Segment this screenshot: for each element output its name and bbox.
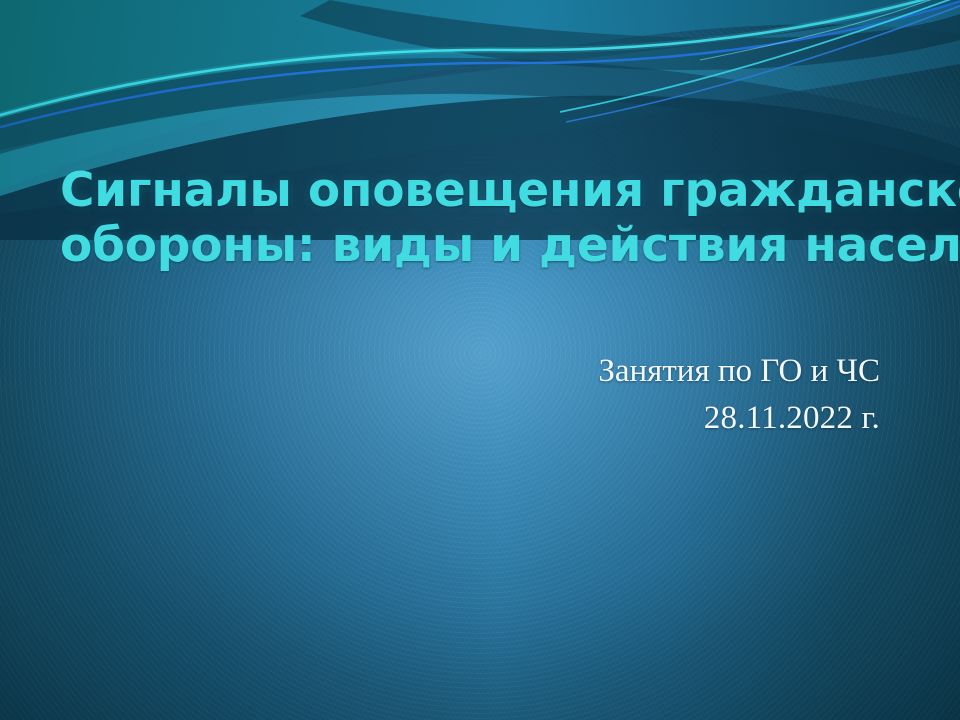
slide-title-line-2: обороны: виды и действия населения — [60, 218, 900, 273]
slide-subtitle-date: 28.11.2022 г. — [120, 395, 880, 442]
slide-subtitle: Занятия по ГО и ЧС 28.11.2022 г. — [120, 348, 880, 442]
presentation-slide: Сигналы оповещения гражданской обороны: … — [0, 0, 960, 720]
slide-title: Сигналы оповещения гражданской обороны: … — [60, 163, 900, 273]
slide-title-line-1: Сигналы оповещения гражданской — [60, 163, 900, 218]
slide-subtitle-course: Занятия по ГО и ЧС — [120, 348, 880, 395]
